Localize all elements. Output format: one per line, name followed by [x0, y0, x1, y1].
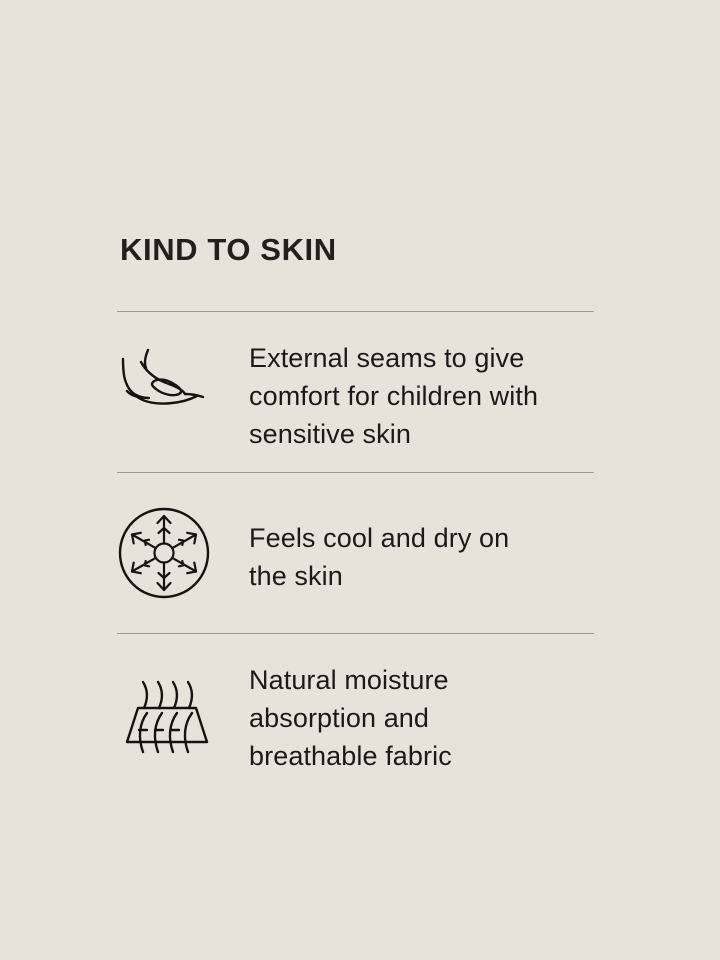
- feature-line: the skin: [249, 557, 594, 595]
- feature-description: External seams to give comfort for child…: [249, 312, 594, 453]
- feature-list: External seams to give comfort for child…: [117, 311, 594, 794]
- feature-line: breathable fabric: [249, 737, 594, 775]
- list-item: Feels cool and dry on the skin: [117, 473, 594, 633]
- feature-line: Feels cool and dry on: [249, 519, 594, 557]
- feature-line: External seams to give: [249, 339, 594, 377]
- kind-to-skin-panel: KIND TO SKIN: [0, 0, 720, 960]
- breathable-fabric-moisture-icon: [117, 634, 249, 794]
- feature-line: comfort for children with: [249, 377, 594, 415]
- feature-line: Natural moisture: [249, 661, 594, 699]
- list-item: Natural moisture absorption and breathab…: [117, 634, 594, 794]
- hand-soft-fabric-icon: [117, 312, 249, 472]
- list-item: External seams to give comfort for child…: [117, 312, 594, 472]
- feature-line: sensitive skin: [249, 415, 594, 453]
- feature-description: Natural moisture absorption and breathab…: [249, 634, 594, 775]
- feature-line: absorption and: [249, 699, 594, 737]
- snowflake-in-circle-icon: [117, 473, 249, 633]
- page-title: KIND TO SKIN: [120, 230, 337, 270]
- feature-description: Feels cool and dry on the skin: [249, 473, 594, 595]
